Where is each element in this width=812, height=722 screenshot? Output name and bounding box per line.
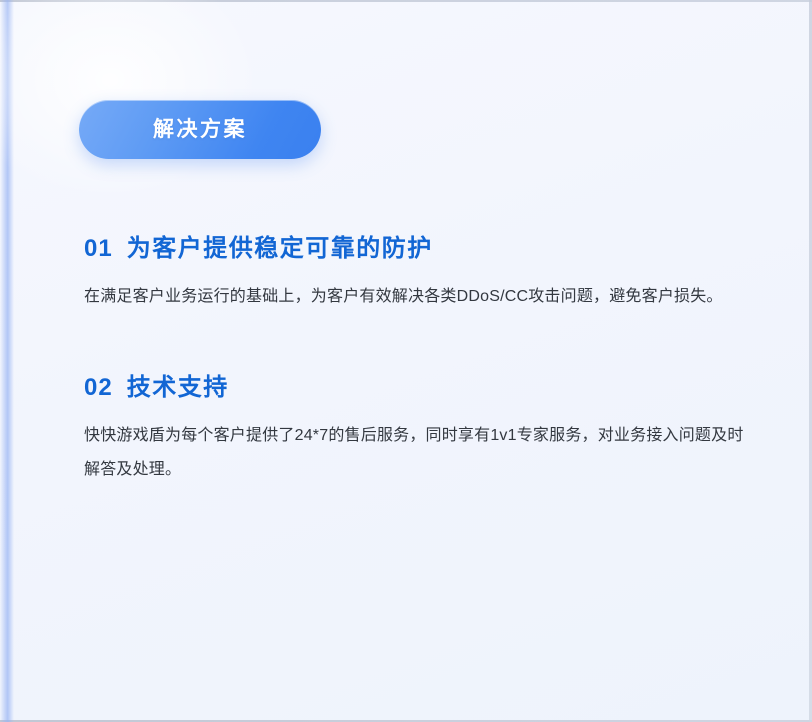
section-01-title: 为客户提供稳定可靠的防护 [127, 232, 433, 266]
section-01-heading: 01 为客户提供稳定可靠的防护 [84, 232, 760, 266]
section-01: 01 为客户提供稳定可靠的防护 在满足客户业务运行的基础上，为客户有效解决各类D… [84, 232, 760, 314]
solution-badge: 解决方案 [79, 100, 321, 159]
section-02: 02 技术支持 快快游戏盾为每个客户提供了24*7的售后服务，同时享有1v1专家… [84, 371, 760, 487]
section-01-number: 01 [84, 232, 113, 266]
section-02-body: 快快游戏盾为每个客户提供了24*7的售后服务，同时享有1v1专家服务，对业务接入… [84, 419, 756, 487]
sections-container: 01 为客户提供稳定可靠的防护 在满足客户业务运行的基础上，为客户有效解决各类D… [84, 232, 760, 487]
section-02-title: 技术支持 [127, 371, 229, 405]
section-02-heading: 02 技术支持 [84, 371, 760, 405]
solution-badge-label: 解决方案 [153, 119, 247, 140]
section-02-number: 02 [84, 371, 113, 405]
page-top-border [0, 0, 812, 2]
section-01-body: 在满足客户业务运行的基础上，为客户有效解决各类DDoS/CC攻击问题，避免客户损… [84, 280, 756, 314]
left-edge-glow [0, 0, 14, 722]
solution-page: 解决方案 01 为客户提供稳定可靠的防护 在满足客户业务运行的基础上，为客户有效… [0, 0, 812, 722]
